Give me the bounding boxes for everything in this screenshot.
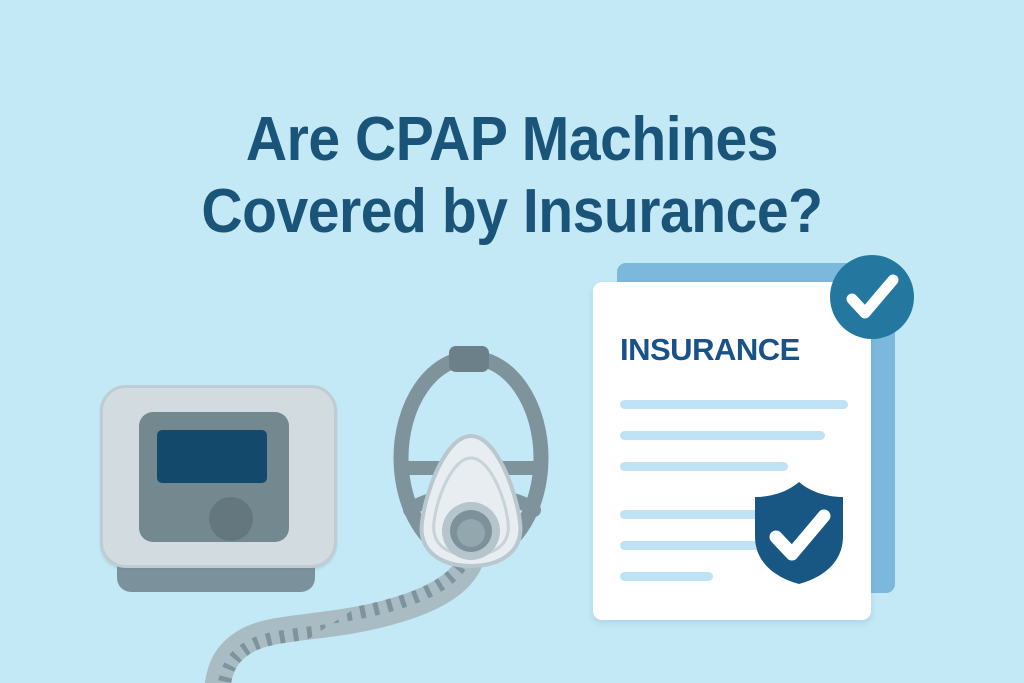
document-text-line [620,462,788,471]
document-text-line [620,572,713,581]
page-title-line-1: Are CPAP Machines [41,104,983,176]
document-title: INSURANCE [620,332,800,368]
document-text-line [620,541,763,550]
page-title: Are CPAP Machines Covered by Insurance? [41,104,983,248]
cpap-machine [95,385,355,600]
cpap-machine-knob [209,497,253,541]
mask-connector-hole [457,519,485,547]
approved-check-badge-icon [830,255,914,339]
document-text-line [620,431,825,440]
mask-top-tab [449,346,489,372]
cpap-mask [370,340,575,590]
document-text-line [620,510,763,519]
insurance-document: INSURANCE [585,255,915,620]
shield-check-icon [753,480,845,586]
illustration-canvas: Are CPAP Machines Covered by Insurance? [0,0,1024,683]
cpap-machine-screen [157,430,267,483]
document-text-line [620,400,848,409]
page-title-line-2: Covered by Insurance? [41,176,983,248]
